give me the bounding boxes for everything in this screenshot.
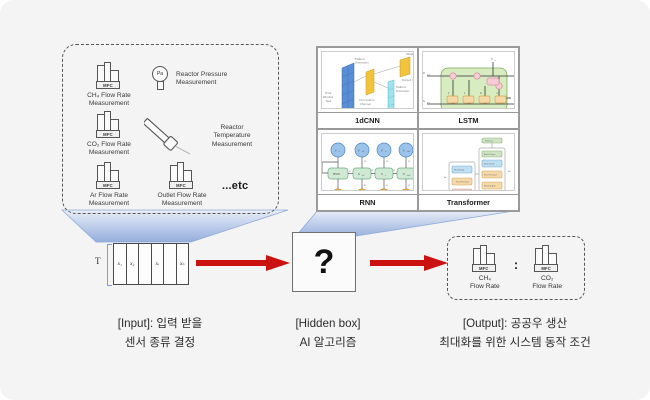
sequence-bracket: [107, 244, 112, 286]
model-grid: Time Window Size Feature Dimension Convo…: [316, 46, 520, 212]
svg-text:W: W: [408, 160, 411, 163]
sequence-cell: xᵢ: [152, 244, 165, 284]
model-cell-transformer[interactable]: Multi-Head Feed Forward Add & Norm Multi…: [418, 129, 519, 211]
svg-text:W: W: [386, 160, 389, 163]
svg-text:y: y: [380, 148, 383, 152]
sensor-outlet-flow: MFC Outlet Flow Rate Measurement: [146, 162, 218, 209]
sequence-box: x₁ x₂ xᵢ xₙ: [113, 243, 189, 285]
thermometer-probe-label: Reactor Temperature Measurement: [196, 124, 268, 149]
svg-text:C: C: [423, 71, 426, 75]
sensor-ar-flow: MFC Ar Flow Rate Measurement: [78, 162, 140, 209]
svg-text:Weight Vec = 1: Weight Vec = 1: [406, 52, 414, 56]
svg-text:Add & Norm: Add & Norm: [484, 153, 496, 156]
svg-text:Feature: Feature: [396, 85, 406, 89]
svg-text:t+1: t+1: [407, 150, 411, 153]
svg-text:Nx: Nx: [508, 171, 511, 173]
figure-1dcnn: Time Window Size Feature Dimension Convo…: [321, 51, 414, 109]
svg-text:W: W: [393, 169, 396, 172]
svg-text:W: W: [371, 169, 374, 172]
sensor-label: CH₄ Flow Rate Measurement: [78, 92, 140, 109]
svg-text:Window: Window: [323, 95, 334, 99]
arrow-input-to-hidden: [196, 253, 292, 273]
mfc-icon: MFC: [532, 245, 562, 273]
output-item-label: CO₂ Flow Rate: [532, 275, 562, 291]
caption-output: [Output]: 공공우 생산 최대화를 위한 시스템 동작 조건: [390, 314, 640, 352]
svg-text:h: h: [381, 172, 383, 176]
svg-text:Nx: Nx: [444, 177, 447, 179]
svg-text:t-1: t-1: [362, 150, 365, 153]
svg-text:Time: Time: [325, 91, 332, 95]
mfc-icon: MFC: [94, 162, 124, 190]
svg-text:Masked Attn: Masked Attn: [484, 185, 497, 188]
etc-label: ...etc: [222, 180, 248, 192]
mfc-icon: MFC: [470, 245, 500, 273]
pressure-gauge-group: Pa: [152, 66, 172, 92]
thermometer-probe-icon: [144, 118, 190, 158]
model-label-1dcnn: 1dCNN: [318, 112, 417, 128]
gauge-dial-text: Pa: [152, 66, 168, 82]
svg-text:W: W: [386, 184, 389, 187]
model-label-transformer: Transformer: [419, 194, 518, 210]
figure-lstm: Ct-1 ht-1 Ch ht xt fi Co: [422, 51, 515, 109]
svg-text:h: h: [423, 99, 425, 103]
svg-text:t: t: [495, 59, 496, 62]
svg-text:Multi-Head: Multi-Head: [484, 163, 495, 166]
model-cell-1dcnn[interactable]: Time Window Size Feature Dimension Convo…: [317, 47, 418, 129]
sensor-label: Outlet Flow Rate Measurement: [146, 192, 218, 209]
mfc-badge: MFC: [169, 181, 193, 189]
model-label-lstm: LSTM: [419, 112, 518, 128]
mfc-icon: MFC: [94, 62, 124, 90]
svg-text:Shifting: Shifting: [360, 107, 370, 109]
output-dashed-box: MFC CH₄ Flow Rate : MFC CO₂ Flow Rate: [447, 236, 585, 300]
mfc-badge: MFC: [472, 264, 496, 272]
svg-text:t-1: t-1: [427, 74, 430, 77]
sensor-co2-flow: MFC CO₂ Flow Rate Measurement: [78, 111, 140, 158]
svg-text:y: y: [357, 148, 360, 152]
svg-text:h: h: [358, 172, 360, 176]
model-cell-lstm[interactable]: Ct-1 ht-1 Ch ht xt fi Co LSTM: [418, 47, 519, 129]
svg-text:Dimension: Dimension: [355, 61, 369, 65]
pressure-gauge-label: Reactor Pressure Measurement: [176, 71, 266, 88]
sequence-cell: xₙ: [177, 244, 189, 284]
ratio-separator: :: [514, 257, 518, 280]
mfc-badge: MFC: [96, 130, 120, 138]
svg-text:Channel: Channel: [360, 102, 371, 106]
figure-canvas: MFC CH₄ Flow Rate Measurement MFC CO₂ Fl…: [0, 0, 650, 400]
output-item-label: CH₄ Flow Rate: [470, 275, 500, 291]
svg-text:Output = 1: Output = 1: [402, 78, 414, 82]
svg-text:Convolution: Convolution: [359, 98, 375, 102]
sequence-time-label: T: [95, 256, 101, 266]
svg-text:RNN: RNN: [332, 172, 341, 176]
mfc-badge: MFC: [96, 81, 120, 89]
sequence-cell: x₁: [114, 244, 127, 284]
svg-text:Size: Size: [326, 99, 332, 103]
sequence-cell: [164, 244, 177, 284]
svg-text:y: y: [334, 148, 337, 152]
sensor-label: CO₂ Flow Rate Measurement: [78, 141, 140, 158]
hidden-box: ?: [292, 232, 356, 292]
model-label-rnn: RNN: [318, 194, 417, 210]
svg-text:W: W: [364, 160, 367, 163]
svg-text:h: h: [403, 172, 405, 176]
svg-text:h: h: [491, 57, 493, 61]
svg-text:t+1: t+1: [407, 174, 411, 177]
input-sequence-group: T x₁ x₂ xᵢ xₙ: [95, 243, 190, 287]
svg-text:Dimension: Dimension: [396, 89, 410, 93]
svg-text:Softmax: Softmax: [485, 140, 494, 143]
svg-text:Multi-Head: Multi-Head: [454, 169, 465, 172]
svg-text:y: y: [402, 148, 405, 152]
svg-text:Feed Forward: Feed Forward: [456, 181, 470, 184]
arrow-hidden-to-output: [370, 253, 450, 273]
figure-rnn: yt RNN xt yt-1 yt yt+1 ht-1 ht ht+1 xt-1…: [321, 133, 414, 191]
model-cell-rnn[interactable]: yt RNN xt yt-1 yt yt+1 ht-1 ht ht+1 xt-1…: [317, 129, 418, 211]
mfc-badge: MFC: [534, 264, 558, 272]
svg-text:W: W: [349, 170, 352, 173]
sequence-cell: [139, 244, 152, 284]
svg-text:t-1: t-1: [427, 102, 430, 105]
figure-transformer: Multi-Head Feed Forward Add & Norm Multi…: [422, 133, 515, 191]
sensor-label: Ar Flow Rate Measurement: [78, 192, 140, 209]
mfc-icon: MFC: [167, 162, 197, 190]
sensor-ch4-flow: MFC CH₄ Flow Rate Measurement: [78, 62, 140, 109]
svg-text:t-1: t-1: [362, 174, 365, 177]
svg-text:W: W: [408, 184, 411, 187]
output-item-co2: MFC CO₂ Flow Rate: [532, 245, 562, 291]
mfc-badge: MFC: [96, 181, 120, 189]
output-item-ch4: MFC CH₄ Flow Rate: [470, 245, 500, 291]
caption-hidden: [Hidden box] AI 알고리즘: [268, 314, 388, 352]
caption-input: [Input]: 입력 받을 센서 종류 결정: [60, 314, 260, 352]
sequence-cell: x₂: [127, 244, 140, 284]
svg-text:Feature: Feature: [355, 57, 365, 61]
svg-text:Feed Forward: Feed Forward: [484, 174, 498, 177]
mfc-icon: MFC: [94, 111, 124, 139]
svg-text:i: i: [464, 91, 465, 95]
pressure-gauge-icon: Pa: [152, 66, 172, 92]
svg-text:W: W: [364, 184, 367, 187]
input-funnel: [60, 208, 290, 248]
